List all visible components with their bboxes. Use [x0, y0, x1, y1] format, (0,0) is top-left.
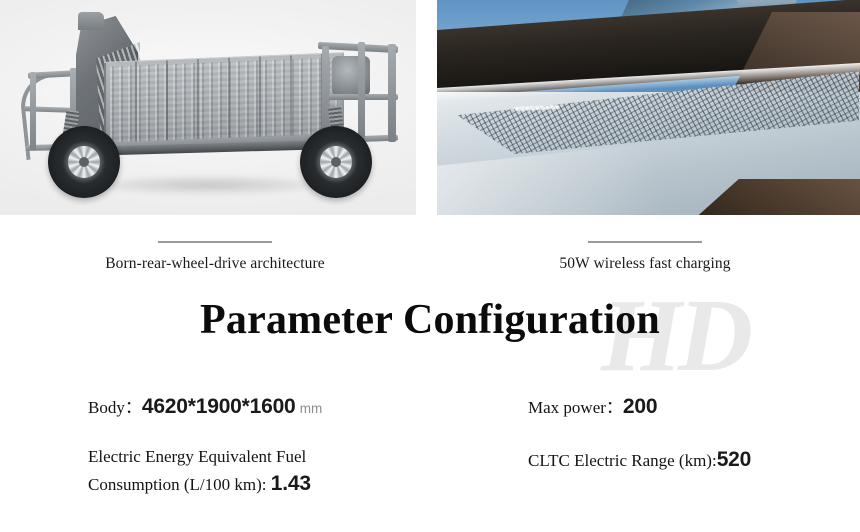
spec-line: Max power：200: [528, 392, 657, 422]
rear-wheel: [300, 126, 372, 198]
spec-item-cltc-range: CLTC Electric Range (km):520: [528, 445, 751, 475]
spec-value-max-power: 200: [623, 395, 657, 418]
spec-item-max-power: Max power：200: [528, 392, 657, 422]
spec-item-body: Body：4620*1900*1600 mm: [88, 392, 322, 422]
caption-left: Born-rear-wheel-drive architecture: [0, 215, 430, 273]
spec-grid: Body：4620*1900*1600 mm Electric Energy E…: [0, 392, 860, 522]
front-wheel: [48, 126, 120, 198]
spec-label-cltc-range: CLTC Electric Range (km):: [528, 451, 717, 470]
spec-line: Body：4620*1900*1600 mm: [88, 392, 322, 422]
title-block: HD Parameter Configuration: [0, 296, 860, 360]
door-panel-speaker-grille-photo: [437, 0, 860, 215]
parameter-configuration-page: Born-rear-wheel-drive architecture 50W w…: [0, 0, 860, 532]
spec-line: Electric Energy Equivalent Fuel Consumpt…: [88, 445, 311, 499]
spec-item-fuel-consumption: Electric Energy Equivalent Fuel Consumpt…: [88, 445, 311, 499]
ev-skateboard-chassis-photo: [0, 0, 416, 215]
caption-right-text: 50W wireless fast charging: [430, 255, 860, 273]
spec-label-fuel-line2: Consumption (L/100 km):: [88, 475, 271, 494]
front-vertical-member: [30, 72, 36, 150]
spec-value-cltc-range: 520: [717, 448, 751, 471]
spec-unit-body: mm: [300, 401, 323, 416]
media-band: [0, 0, 860, 215]
front-wheel-hub: [79, 157, 89, 167]
caption-divider-rule: [588, 241, 702, 243]
caption-left-text: Born-rear-wheel-drive architecture: [0, 255, 430, 273]
spec-value-body: 4620*1900*1600: [142, 395, 296, 418]
spec-value-fuel: 1.43: [271, 472, 311, 495]
chassis-cowl-top: [78, 12, 104, 30]
spec-line: CLTC Electric Range (km):520: [528, 445, 751, 475]
rear-vertical-member: [358, 42, 365, 144]
caption-divider-rule: [158, 241, 272, 243]
spec-label-body: Body：: [88, 398, 142, 417]
caption-row: Born-rear-wheel-drive architecture 50W w…: [0, 215, 860, 285]
spec-label-fuel-line1: Electric Energy Equivalent Fuel: [88, 447, 306, 466]
spec-label-max-power: Max power：: [528, 398, 623, 417]
rear-vertical-member: [388, 44, 396, 142]
rear-wheel-hub: [331, 157, 341, 167]
caption-right: 50W wireless fast charging: [430, 215, 860, 273]
door-panel-scene: [437, 0, 860, 215]
page-title: Parameter Configuration: [0, 296, 860, 344]
